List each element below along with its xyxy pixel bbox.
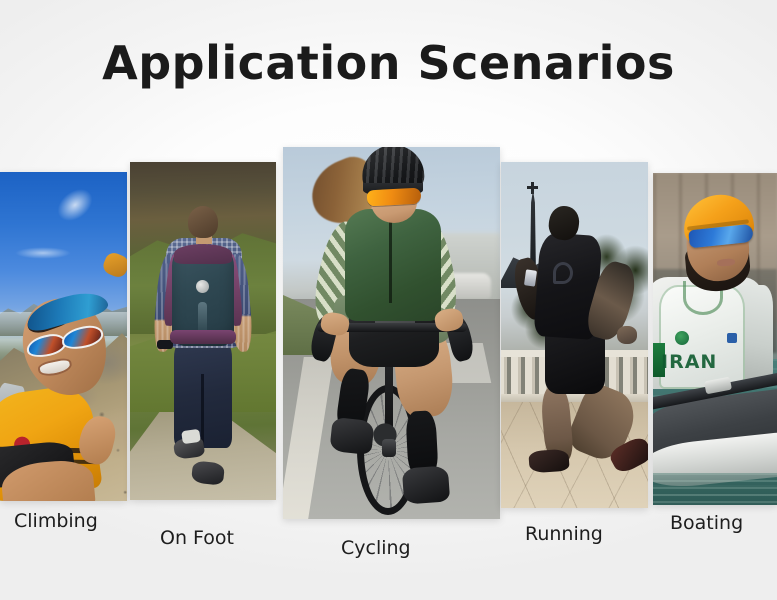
cycling-shoe bbox=[329, 417, 374, 455]
jersey-zipper bbox=[389, 213, 392, 303]
backpack-hipbelt bbox=[170, 330, 236, 344]
shirt-logo bbox=[553, 262, 573, 284]
water-reflection bbox=[653, 473, 777, 505]
scenario-image-on-foot[interactable] bbox=[130, 162, 276, 500]
head bbox=[188, 206, 218, 238]
scenario-label-climbing: Climbing bbox=[14, 510, 98, 532]
bicycle-hub bbox=[382, 439, 396, 457]
climbing-photo bbox=[0, 172, 127, 501]
page-title: Application Scenarios bbox=[0, 36, 777, 90]
scenario-image-running[interactable] bbox=[501, 162, 648, 508]
sock bbox=[181, 429, 201, 444]
team-emblem bbox=[675, 331, 689, 345]
running-shoe bbox=[528, 449, 569, 474]
sleeve-badge bbox=[524, 269, 537, 286]
cloud-shape bbox=[8, 244, 78, 262]
scenario-image-cycling[interactable] bbox=[283, 147, 500, 519]
scenario-image-boating[interactable]: IRAN bbox=[653, 173, 777, 505]
sport-sunglasses bbox=[367, 188, 422, 207]
grass-tuft bbox=[130, 426, 178, 500]
scenario-label-cycling: Cycling bbox=[341, 537, 411, 559]
backpack-buckle bbox=[196, 280, 209, 293]
jersey-country-text: IRAN bbox=[661, 351, 741, 373]
boating-photo: IRAN bbox=[653, 173, 777, 505]
sunglasses-lens bbox=[25, 331, 69, 360]
cycling-shoe bbox=[402, 465, 450, 504]
spire-cross bbox=[527, 186, 538, 189]
hand bbox=[617, 326, 637, 344]
running-photo bbox=[501, 162, 648, 508]
scenario-label-running: Running bbox=[525, 523, 603, 545]
cloud-shape bbox=[45, 176, 105, 234]
backpack-lid bbox=[174, 244, 232, 264]
background-gear bbox=[101, 250, 127, 279]
scenario-label-boating: Boating bbox=[670, 512, 743, 534]
cycling-photo bbox=[283, 147, 500, 519]
scenario-image-climbing[interactable] bbox=[0, 172, 127, 501]
scenario-label-on-foot: On Foot bbox=[160, 527, 234, 549]
sponsor-badge bbox=[727, 333, 737, 343]
on-foot-photo bbox=[130, 162, 276, 500]
green-jersey bbox=[345, 209, 441, 321]
